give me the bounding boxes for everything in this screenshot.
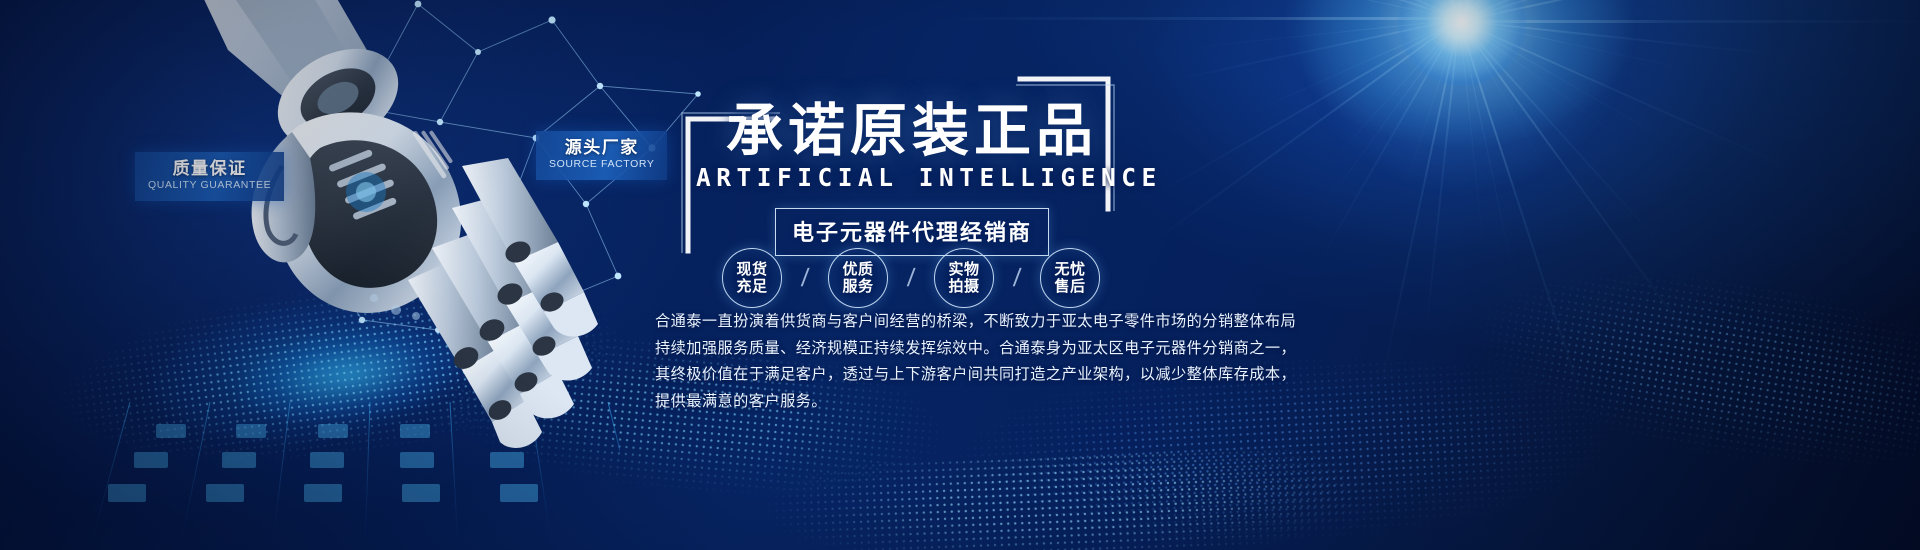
feature-badge-service[interactable]: 优质 服务 <box>828 248 888 308</box>
headline-english-title: ARTIFICIAL INTELLIGENCE <box>696 163 1106 192</box>
feature-badge-list: 现货 充足 / 优质 服务 / 实物 拍摄 / 无忧 售后 <box>722 248 1100 308</box>
feature-badge-service-line2: 服务 <box>842 278 873 295</box>
feature-separator-icon: / <box>886 264 935 293</box>
tag-quality-guarantee-en: QUALITY GUARANTEE <box>148 179 271 192</box>
dot-wave-mesh <box>758 444 1383 550</box>
feature-badge-aftersales[interactable]: 无忧 售后 <box>1040 248 1100 308</box>
description-line-4: 提供最满意的客户服务。 <box>655 390 1315 414</box>
tag-source-factory-en: SOURCE FACTORY <box>549 158 654 171</box>
headline-main-title: 承诺原装正品 <box>726 85 1098 167</box>
feature-badge-stock-line2: 充足 <box>736 278 767 295</box>
feature-badge-stock[interactable]: 现货 充足 <box>722 248 782 308</box>
feature-separator-icon: / <box>992 264 1041 293</box>
description-line-1: 合通泰一直扮演着供货商与客户间经营的桥梁，不断致力于亚太电子零件市场的分销整体布… <box>655 310 1315 334</box>
description-line-3: 其终极价值在于满足客户，透过与上下游客户间共同打造之产业架构，以减少整体库存成本… <box>655 363 1315 387</box>
feature-badge-stock-line1: 现货 <box>736 261 767 278</box>
feature-badge-photo-line2: 拍摄 <box>948 278 979 295</box>
feature-badge-aftersales-line1: 无忧 <box>1054 261 1085 278</box>
headline-block: 承诺原装正品 ARTIFICIAL INTELLIGENCE 电子元器件代理经销… <box>668 75 1128 255</box>
headline-subtitle-text: 电子元器件代理经销商 <box>792 215 1032 247</box>
tag-quality-guarantee-cn: 质量保证 <box>148 159 271 178</box>
robotic-hand-illustration <box>170 0 690 450</box>
description-line-2: 持续加强服务质量、经济规模正持续发挥综效中。合通泰身为亚太区电子元器件分销商之一… <box>655 337 1315 361</box>
promo-banner: 质量保证 QUALITY GUARANTEE 源头厂家 SOURCE FACTO… <box>0 0 1920 550</box>
feature-separator-icon: / <box>780 264 829 293</box>
feature-badge-service-line1: 优质 <box>842 261 873 278</box>
tag-quality-guarantee: 质量保证 QUALITY GUARANTEE <box>135 152 284 201</box>
feature-badge-aftersales-line2: 售后 <box>1054 278 1085 295</box>
description-paragraph: 合通泰一直扮演着供货商与客户间经营的桥梁，不断致力于亚太电子零件市场的分销整体布… <box>655 310 1315 416</box>
feature-badge-photo-line1: 实物 <box>948 261 979 278</box>
dot-wave-mesh <box>1468 231 1920 510</box>
tag-source-factory: 源头厂家 SOURCE FACTORY <box>536 131 667 180</box>
feature-badge-photo[interactable]: 实物 拍摄 <box>934 248 994 308</box>
tag-source-factory-cn: 源头厂家 <box>549 138 654 157</box>
